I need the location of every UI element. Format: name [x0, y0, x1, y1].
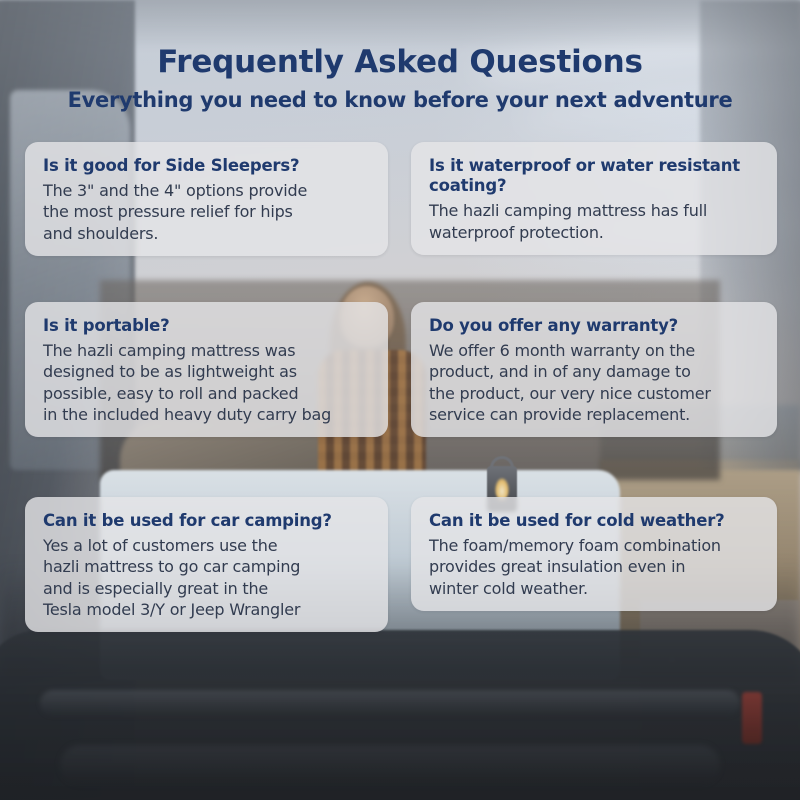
faq-card[interactable]: Do you offer any warranty? We offer 6 mo… [411, 302, 777, 437]
faq-answer: The hazli camping mattress has full wate… [429, 200, 761, 243]
faq-question: Is it good for Side Sleepers? [43, 156, 372, 176]
faq-answer: The hazli camping mattress was designed … [43, 340, 372, 425]
faq-question: Is it waterproof or water resistant coat… [429, 156, 761, 196]
faq-page: Frequently Asked Questions Everything yo… [0, 0, 800, 800]
faq-question: Is it portable? [43, 316, 372, 336]
faq-answer: The foam/memory foam combination provide… [429, 535, 761, 599]
faq-answer: We offer 6 month warranty on the product… [429, 340, 761, 425]
faq-question: Do you offer any warranty? [429, 316, 761, 336]
faq-answer: Yes a lot of customers use the hazli mat… [43, 535, 372, 620]
faq-card[interactable]: Is it waterproof or water resistant coat… [411, 142, 777, 255]
faq-card[interactable]: Is it portable? The hazli camping mattre… [25, 302, 388, 437]
faq-question: Can it be used for car camping? [43, 511, 372, 531]
faq-question: Can it be used for cold weather? [429, 511, 761, 531]
faq-card-grid: Is it good for Side Sleepers? The 3" and… [0, 0, 800, 800]
faq-card[interactable]: Can it be used for car camping? Yes a lo… [25, 497, 388, 632]
faq-card[interactable]: Can it be used for cold weather? The foa… [411, 497, 777, 611]
faq-card[interactable]: Is it good for Side Sleepers? The 3" and… [25, 142, 388, 256]
faq-answer: The 3" and the 4" options provide the mo… [43, 180, 372, 244]
